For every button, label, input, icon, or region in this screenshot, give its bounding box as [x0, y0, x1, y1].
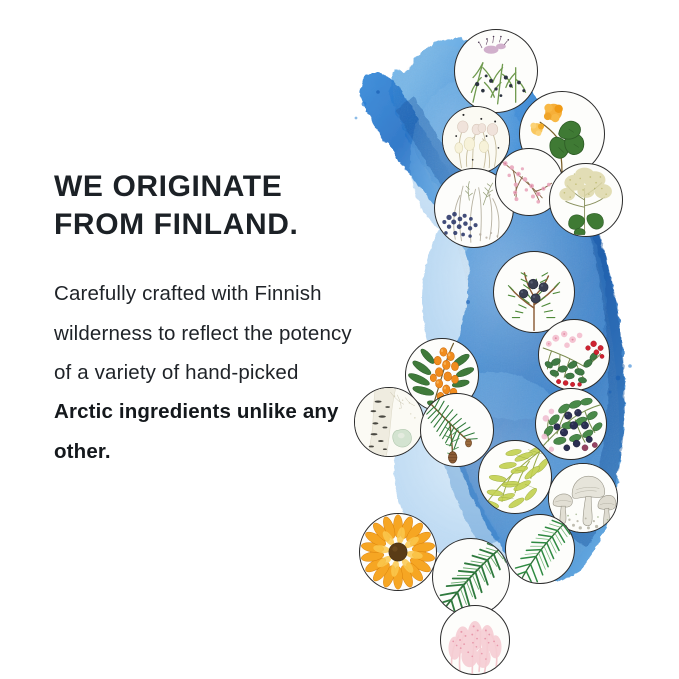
medallion-pine-branch — [420, 393, 494, 467]
body-emphasis-text: Arctic ingredients unlike any other. — [54, 392, 354, 471]
text-column: WE ORIGINATE FROM FINLAND. Carefully cra… — [54, 168, 354, 471]
cloudberry-flower-large — [544, 104, 563, 122]
pine-cone-small — [465, 439, 471, 447]
medallion-pine-needles — [505, 514, 575, 584]
medallion-meadowsweet — [549, 163, 623, 237]
calendula-center — [389, 543, 407, 561]
finland-map-illustration — [318, 0, 679, 679]
medallion-bilberry-cluster — [535, 388, 607, 460]
body-copy: Carefully crafted with Finnish wildernes… — [54, 274, 354, 471]
pine-cone — [448, 452, 457, 464]
medallion-birch-bark — [354, 387, 424, 457]
body-lead-text: Carefully crafted with Finnish wildernes… — [54, 274, 354, 392]
willow-leaf — [484, 444, 550, 509]
medallion-crowberry-heather — [454, 29, 538, 113]
cloudberry-flower-small — [530, 123, 544, 136]
medallion-calendula-flower — [359, 513, 437, 591]
bilberry-cluster — [442, 212, 477, 238]
page-title: WE ORIGINATE FROM FINLAND. — [54, 168, 354, 244]
promo-graphic: WE ORIGINATE FROM FINLAND. Carefully cra… — [0, 0, 679, 679]
medallion-pink-heather — [440, 605, 510, 675]
bilberry-leaf — [542, 397, 603, 445]
medallion-lingonberry — [538, 319, 610, 391]
medallion-willow-leaves — [478, 440, 552, 514]
